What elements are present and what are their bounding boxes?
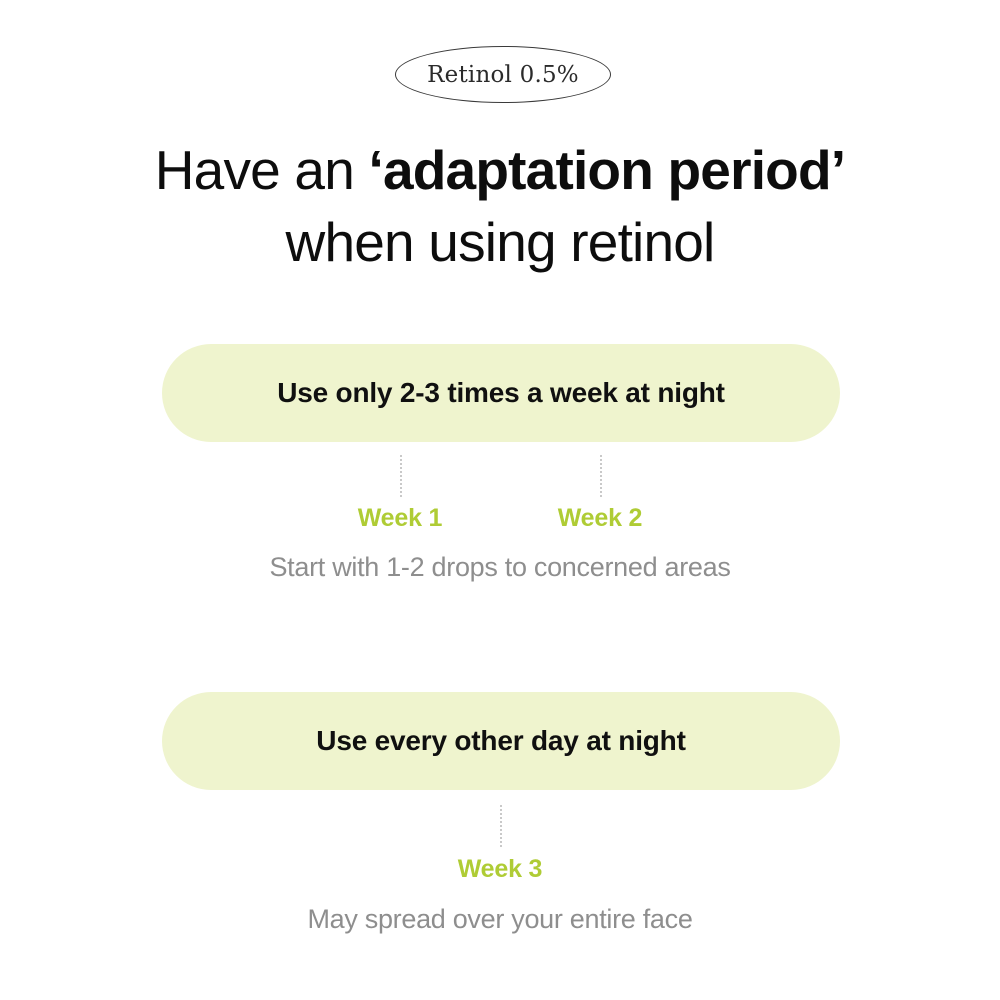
week-label-3: Week 3 <box>458 855 543 884</box>
connector-line-week-1 <box>400 455 402 497</box>
product-strength-label: Retinol 0.5% <box>427 62 579 88</box>
page-title-prefix: Have an <box>155 139 369 201</box>
page-title: Have an ‘adaptation period’ when using r… <box>0 134 1000 278</box>
product-strength-badge: Retinol 0.5% <box>395 46 611 103</box>
connector-line-week-2 <box>600 455 602 497</box>
connector-line-week-3 <box>500 805 502 847</box>
week-label-1: Week 1 <box>358 504 443 533</box>
step-2-description: May spread over your entire face <box>0 904 1000 935</box>
page-title-emphasis: ‘adaptation period’ <box>368 139 845 201</box>
page-title-line-2: when using retinol <box>0 206 1000 278</box>
page-title-line-1: Have an ‘adaptation period’ <box>0 134 1000 206</box>
step-1-pill: Use only 2-3 times a week at night <box>162 344 840 442</box>
step-2-pill-label: Use every other day at night <box>316 725 685 757</box>
step-1-description: Start with 1-2 drops to concerned areas <box>0 552 1000 583</box>
step-2-pill: Use every other day at night <box>162 692 840 790</box>
infographic-canvas: Retinol 0.5% Have an ‘adaptation period’… <box>0 0 1000 1000</box>
week-label-2: Week 2 <box>558 504 643 533</box>
step-1-pill-label: Use only 2-3 times a week at night <box>277 377 725 409</box>
